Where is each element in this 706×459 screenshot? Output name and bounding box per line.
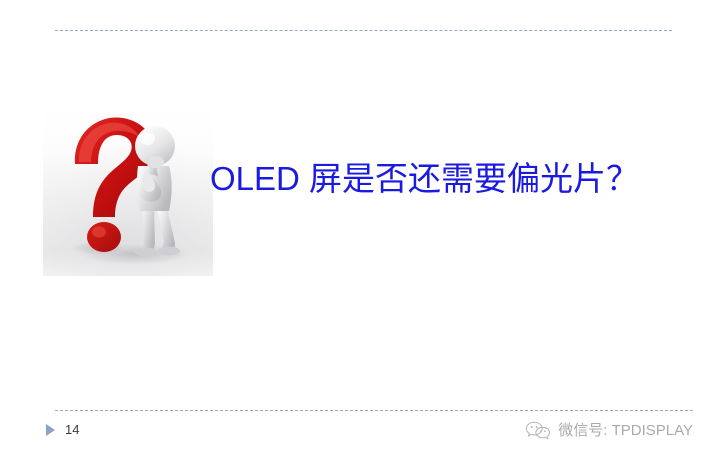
page-marker: 14 — [46, 423, 79, 436]
watermark-text: 微信号: TPDISPLAY — [558, 421, 693, 440]
slide-canvas: OLED 屏是否还需要偏光片？ 14 微信号: TPDISPLAY — [0, 0, 706, 459]
divider-bottom — [55, 410, 693, 411]
wechat-icon — [525, 420, 551, 440]
question-mark-figurine-image — [43, 104, 213, 276]
page-title: OLED 屏是否还需要偏光片？ — [210, 159, 639, 199]
page-number: 14 — [65, 423, 79, 436]
watermark: 微信号: TPDISPLAY — [525, 420, 693, 440]
divider-top — [55, 30, 672, 31]
triangle-right-icon — [46, 424, 55, 436]
